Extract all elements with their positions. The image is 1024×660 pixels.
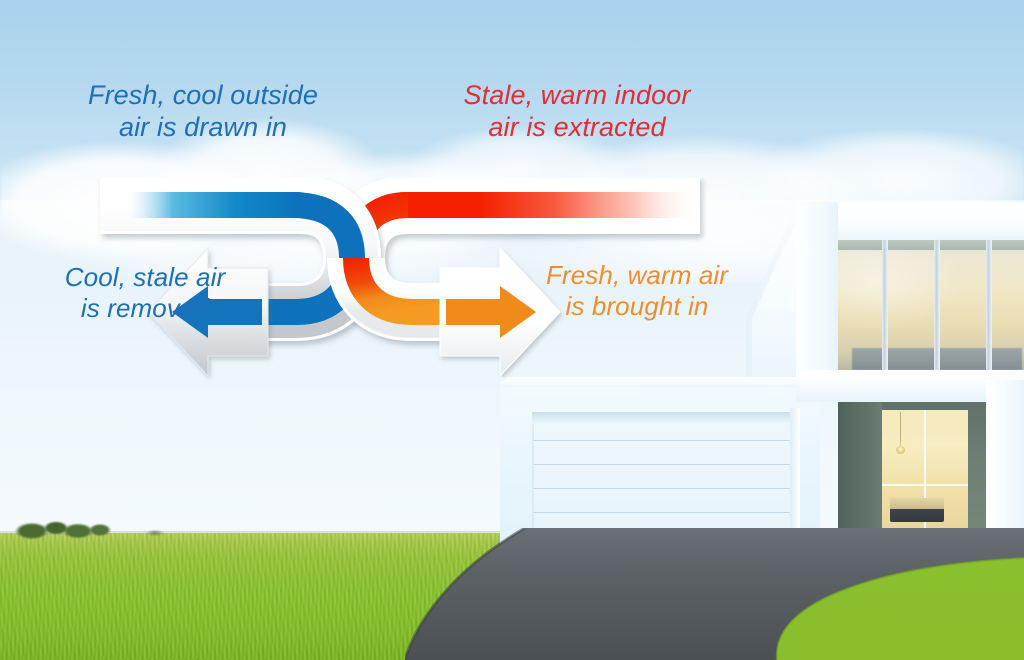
label-fresh-warm-supply: Fresh, warm air is brought in — [512, 260, 762, 321]
right-pier — [986, 380, 1024, 548]
ground-floor-recess — [838, 402, 986, 540]
upper-picture-window — [838, 240, 1024, 370]
pendant-lamp-icon — [896, 446, 905, 454]
recess-side-wall — [838, 402, 882, 540]
pendant-cord — [900, 412, 901, 448]
label-stale-warm-extract: Stale, warm indoor air is extracted — [432, 80, 722, 144]
garage-door-jamb — [790, 408, 800, 548]
glass-entry-door — [882, 410, 968, 528]
distant-shrub — [142, 527, 168, 537]
window-mullion — [934, 240, 940, 370]
hedge-shrubs — [12, 515, 122, 539]
label-cool-stale-removed: Cool, stale air is removed — [20, 262, 270, 323]
garage-door — [532, 412, 792, 546]
label-fresh-cool-intake: Fresh, cool outside air is drawn in — [58, 80, 348, 144]
sofa — [890, 498, 944, 522]
garage-door-lintel — [532, 412, 790, 424]
window-header — [838, 240, 1024, 250]
window-mullion — [882, 240, 888, 370]
window-mullion — [986, 240, 992, 370]
ventilation-diagram-scene: Fresh, cool outside air is drawn in Stal… — [0, 0, 1024, 660]
driveway — [405, 528, 1024, 660]
